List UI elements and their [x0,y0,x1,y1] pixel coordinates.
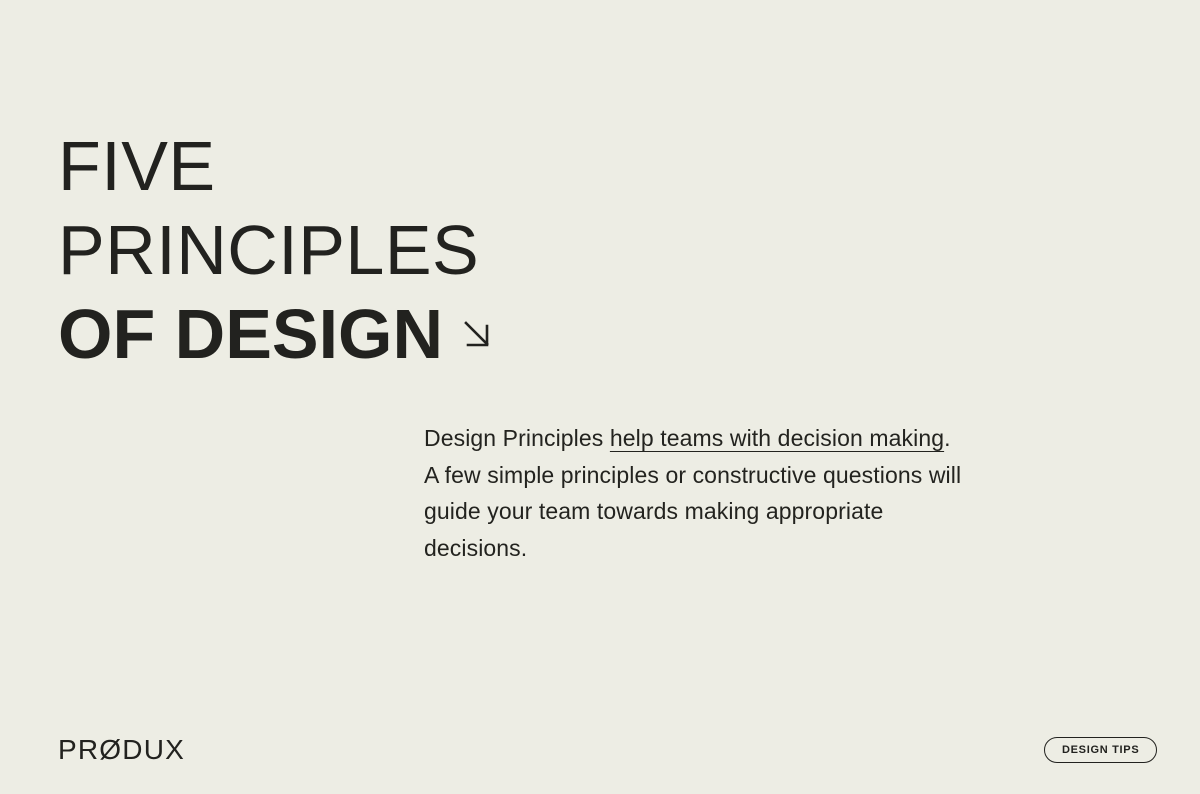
slide-canvas: FIVE PRINCIPLES OF DESIGN Design Princip… [0,0,1200,794]
body-paragraph: Design Principles help teams with decisi… [424,420,969,566]
design-tips-button[interactable]: DESIGN TIPS [1044,737,1157,763]
headline-line-one: FIVE [58,124,495,208]
body-segment-one: Design Principles [424,425,610,451]
arrow-down-right-icon [461,318,495,352]
headline-line-three: OF DESIGN [58,295,443,373]
headline-line-two: PRINCIPLES [58,208,495,292]
body-link-decision-making[interactable]: help teams with decision making [610,425,944,451]
headline-line-three-wrap: OF DESIGN [58,292,495,376]
brand-logo[interactable]: PRØDUX [58,735,185,765]
page-title: FIVE PRINCIPLES OF DESIGN [58,124,495,376]
design-tips-button-label: DESIGN TIPS [1062,744,1139,756]
